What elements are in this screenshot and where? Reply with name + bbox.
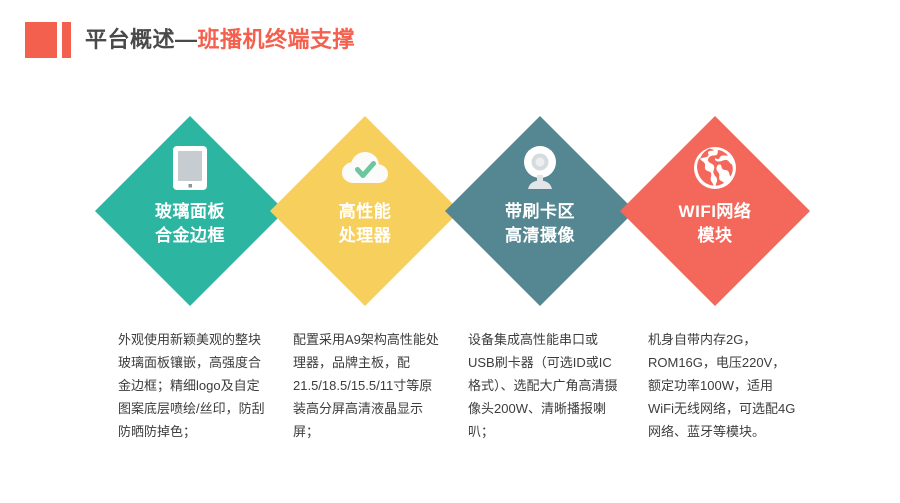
feature-label-line1: WIFI网络 [620,200,810,224]
page-title: 平台概述—班播机终端支撑 [85,22,355,58]
feature-diamond-label: 玻璃面板 合金边框 [95,200,285,248]
page-header: 平台概述—班播机终端支撑 [0,0,900,72]
globe-icon [620,142,810,194]
feature-label-line1: 高性能 [270,200,460,224]
page-title-accent: 班播机终端支撑 [198,27,356,52]
feature-diamond-processor[interactable]: 高性能 处理器 [270,116,460,306]
tablet-icon [95,142,285,194]
feature-label-line1: 带刷卡区 [445,200,635,224]
feature-description-camera: 设备集成高性能串口或USB刷卡器（可选ID或IC格式）、选配大广角高清摄像头20… [468,328,618,443]
feature-description-glass-panel: 外观使用新颖美观的整块玻璃面板镶嵌，高强度合金边框；精细logo及自定图案底层喷… [118,328,268,443]
feature-diamond-wifi[interactable]: WIFI网络 模块 [620,116,810,306]
webcam-icon [445,142,635,194]
header-accent-block-wide [25,22,57,58]
feature-label-line1: 玻璃面板 [95,200,285,224]
feature-diamond-label: WIFI网络 模块 [620,200,810,248]
feature-diamond-label: 带刷卡区 高清摄像 [445,200,635,248]
feature-label-line2: 处理器 [270,224,460,248]
feature-diamond-row: 玻璃面板 合金边框 高性能 处理器 带刷卡区 [0,116,900,308]
feature-label-line2: 高清摄像 [445,224,635,248]
feature-label-line2: 模块 [620,224,810,248]
feature-description-processor: 配置采用A9架构高性能处理器，品牌主板，配21.5/18.5/15.5/11寸等… [293,328,443,443]
feature-description-row: 外观使用新颖美观的整块玻璃面板镶嵌，高强度合金边框；精细logo及自定图案底层喷… [0,328,900,468]
feature-diamond-label: 高性能 处理器 [270,200,460,248]
feature-diamond-glass-panel[interactable]: 玻璃面板 合金边框 [95,116,285,306]
feature-diamond-camera[interactable]: 带刷卡区 高清摄像 [445,116,635,306]
header-accent-block-narrow [62,22,71,58]
feature-description-wifi: 机身自带内存2G，ROM16G，电压220V，额定功率100W，适用WiFi无线… [648,328,798,443]
feature-label-line2: 合金边框 [95,224,285,248]
page-title-prefix: 平台概述— [85,27,198,52]
cloud-check-icon [270,142,460,194]
